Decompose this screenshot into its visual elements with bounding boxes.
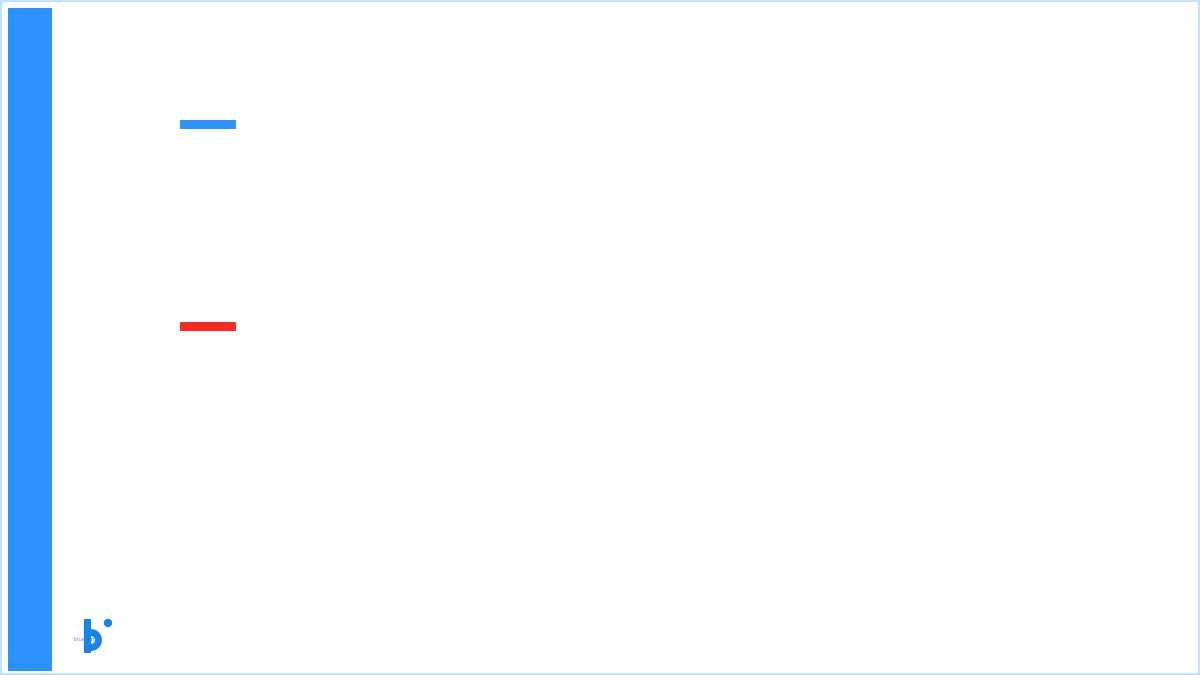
footer-branding: bluekurtic bbox=[74, 615, 128, 657]
legend-swatch-blue bbox=[180, 120, 236, 129]
chart-page: bluekurtic bbox=[0, 0, 1200, 675]
legend-bottom-panel bbox=[180, 322, 250, 331]
legend-top-panel bbox=[180, 120, 250, 129]
bluekurtic-b-logo-icon: bluekurtic bbox=[74, 615, 118, 657]
chart-canvas bbox=[2, 2, 1200, 675]
legend-swatch-red bbox=[180, 322, 236, 331]
